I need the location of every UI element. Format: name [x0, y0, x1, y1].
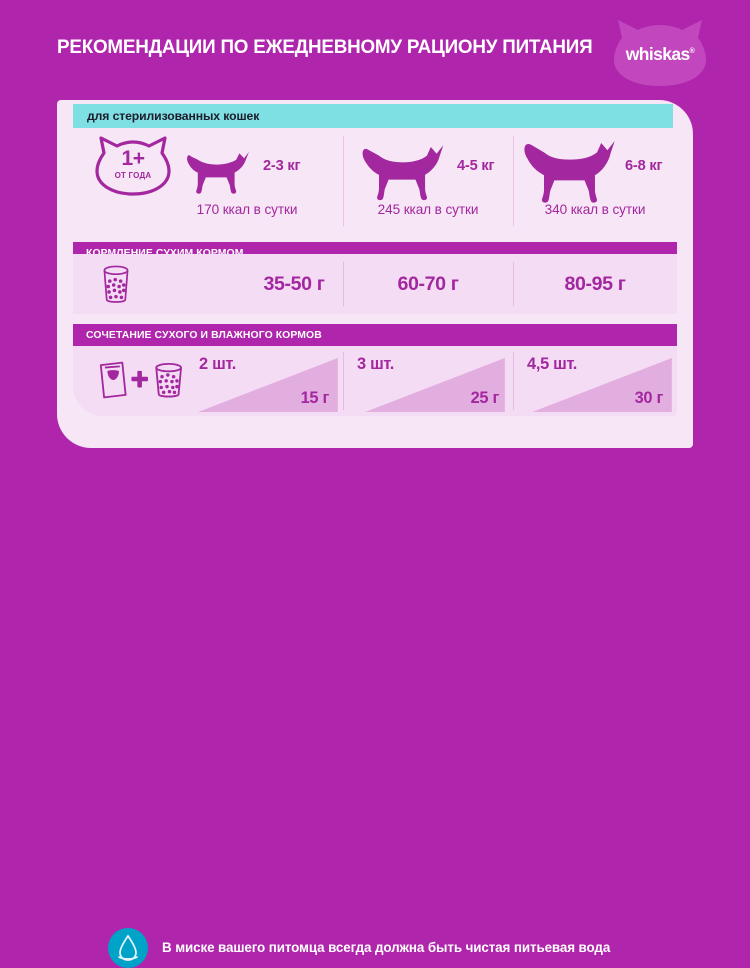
mix-grams-2: 25 г — [471, 389, 499, 408]
cat-silhouette-2 — [349, 130, 457, 202]
cat-silhouette-1 — [171, 135, 263, 197]
dry-food-section-body: 35-50 г 60-70 г 80-95 г — [73, 254, 677, 314]
kcal-label-2: 245 ккал в сутки — [343, 202, 513, 217]
weight-label-3: 6-8 кг — [625, 158, 662, 174]
mix-section-header: СОЧЕТАНИЕ СУХОГО И ВЛАЖНОГО КОРМОВ — [73, 324, 677, 346]
page-title: РЕКОМЕНДАЦИИ ПО ЕЖЕДНЕВНОМУ РАЦИОНУ ПИТА… — [57, 36, 592, 59]
sterilized-banner: для стерилизованных кошек — [73, 104, 673, 128]
column-divider — [343, 352, 344, 410]
mix-section-body: 2 шт. 15 г 3 шт. 25 г 4,5 шт. 30 г — [73, 346, 677, 416]
mix-cell-2: 3 шт. 25 г — [343, 346, 513, 416]
cat-silhouette-large-icon — [518, 136, 622, 204]
footer: В миске вашего питомца всегда должна быт… — [0, 460, 750, 520]
sterilized-banner-label: для стерилизованных кошек — [87, 109, 259, 123]
footer-text: В миске вашего питомца всегда должна быт… — [162, 940, 610, 955]
mix-grams-1: 15 г — [301, 389, 329, 408]
dry-food-value-2: 60-70 г — [398, 273, 459, 296]
dry-food-row: 35-50 г 60-70 г 80-95 г — [73, 254, 677, 314]
mix-pouches-2: 3 шт. — [357, 355, 394, 374]
column-divider — [513, 262, 514, 306]
weight-row: 1+ ОТ ГОДА 2-3 кг 170 ккал в сутки — [73, 130, 677, 232]
age-badge-caption: ОТ ГОДА — [95, 171, 171, 180]
pouch-plus-cup-icon — [95, 360, 191, 400]
weight-column-3: 6-8 кг 340 ккал в сутки — [513, 130, 677, 232]
age-badge: 1+ ОТ ГОДА — [95, 135, 171, 197]
weight-column-1-top: 1+ ОТ ГОДА 2-3 кг — [73, 130, 343, 202]
mix-pouches-1: 2 шт. — [199, 355, 236, 374]
whiskas-wordmark-text: whiskas — [626, 44, 690, 64]
kcal-label-1: 170 ккал в сутки — [151, 202, 343, 217]
kcal-label-3: 340 ккал в сутки — [513, 202, 677, 217]
header: РЕКОМЕНДАЦИИ ПО ЕЖЕДНЕВНОМУ РАЦИОНУ ПИТА… — [0, 0, 750, 100]
mix-pouches-3: 4,5 шт. — [527, 355, 577, 374]
mix-cell-1: 2 шт. 15 г — [73, 346, 343, 416]
column-divider — [343, 262, 344, 306]
cat-silhouette-3 — [515, 128, 625, 204]
cat-silhouette-medium-icon — [355, 140, 451, 202]
mix-grams-3: 30 г — [635, 389, 663, 408]
weight-label-1: 2-3 кг — [263, 158, 300, 174]
water-drop-icon — [108, 928, 148, 968]
age-badge-number: 1+ — [95, 147, 171, 171]
dry-food-value-1: 35-50 г — [264, 273, 325, 296]
dry-food-cell-3: 80-95 г — [513, 254, 677, 314]
whiskas-logo: whiskas® — [612, 18, 708, 88]
weight-label-2: 4-5 кг — [457, 158, 494, 174]
dry-food-value-3: 80-95 г — [565, 273, 626, 296]
poster-root: РЕКОМЕНДАЦИИ ПО ЕЖЕДНЕВНОМУ РАЦИОНУ ПИТА… — [0, 0, 750, 530]
weight-column-3-top: 6-8 кг — [513, 130, 677, 202]
cat-silhouette-small-icon — [177, 145, 257, 197]
column-divider — [513, 352, 514, 410]
weight-column-1: 1+ ОТ ГОДА 2-3 кг 170 ккал в сутки — [73, 130, 343, 232]
weight-column-2: 4-5 кг 245 ккал в сутки — [343, 130, 513, 232]
mix-section-title: СОЧЕТАНИЕ СУХОГО И ВЛАЖНОГО КОРМОВ — [86, 330, 322, 341]
feeding-card: для стерилизованных кошек 1+ ОТ ГОДА — [57, 100, 693, 448]
whiskas-wordmark: whiskas® — [612, 44, 708, 65]
dry-food-cell-2: 60-70 г — [343, 254, 513, 314]
mix-cell-3: 4,5 шт. 30 г — [513, 346, 677, 416]
weight-column-2-top: 4-5 кг — [343, 130, 513, 202]
